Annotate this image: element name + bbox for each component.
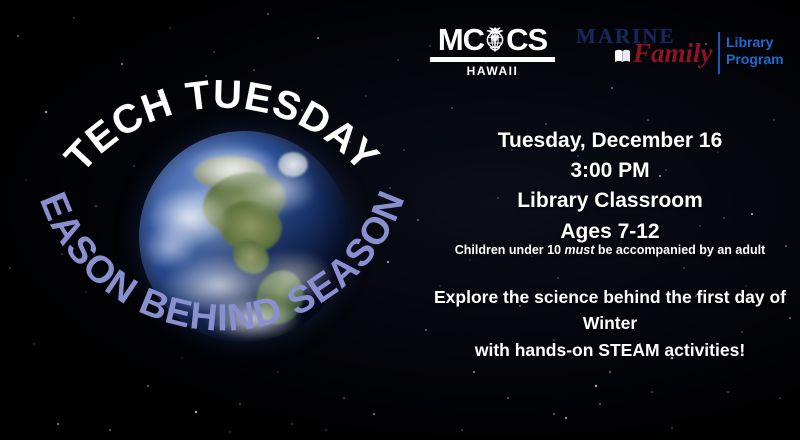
logo-row: MC — [420, 22, 800, 84]
program-line: Program — [726, 51, 784, 68]
note-text-after: be accompanied by an adult — [594, 243, 765, 257]
library-line: Library — [726, 34, 784, 51]
note-emphasis: must — [565, 243, 595, 257]
mccs-hawaii-logo: MC — [430, 22, 555, 78]
mccs-rule — [430, 57, 555, 62]
arc-text-tech-tuesday: TECH TUESDAY — [57, 72, 388, 180]
description-line-2: with hands-on STEAM activities! — [410, 337, 800, 363]
mccs-subtitle: HAWAII — [430, 64, 555, 78]
library-program-wordmark: Library Program — [726, 34, 784, 67]
poster-info-column: MC — [420, 0, 800, 440]
mccs-text-right: CS — [506, 24, 547, 55]
mccs-text-left: MC — [438, 24, 484, 55]
note-text-before: Children under 10 — [455, 243, 565, 257]
description-line-1: Explore the science behind the first day… — [410, 284, 800, 337]
logo-divider — [718, 32, 720, 74]
event-details: Tuesday, December 16 3:00 PM Library Cla… — [420, 126, 800, 247]
event-date: Tuesday, December 16 — [420, 126, 800, 156]
family-lockup: Family — [614, 40, 713, 67]
badge-curved-text: TECH TUESDAY REASON BEHIND SEASONS — [22, 18, 422, 423]
book-icon — [614, 48, 631, 63]
event-location: Library Classroom — [420, 186, 800, 216]
tech-tuesday-badge: TECH TUESDAY REASON BEHIND SEASONS — [22, 18, 422, 423]
eagle-globe-anchor-icon — [482, 23, 508, 55]
event-description: Explore the science behind the first day… — [410, 284, 800, 363]
event-time: 3:00 PM — [420, 156, 800, 186]
family-wordmark: Family — [633, 40, 713, 67]
marine-family-library-program-logo: MARINE Family Library Program — [570, 24, 790, 80]
poster-canvas: TECH TUESDAY REASON BEHIND SEASONS MC — [0, 0, 800, 440]
supervision-note: Children under 10 must be accompanied by… — [420, 243, 800, 257]
